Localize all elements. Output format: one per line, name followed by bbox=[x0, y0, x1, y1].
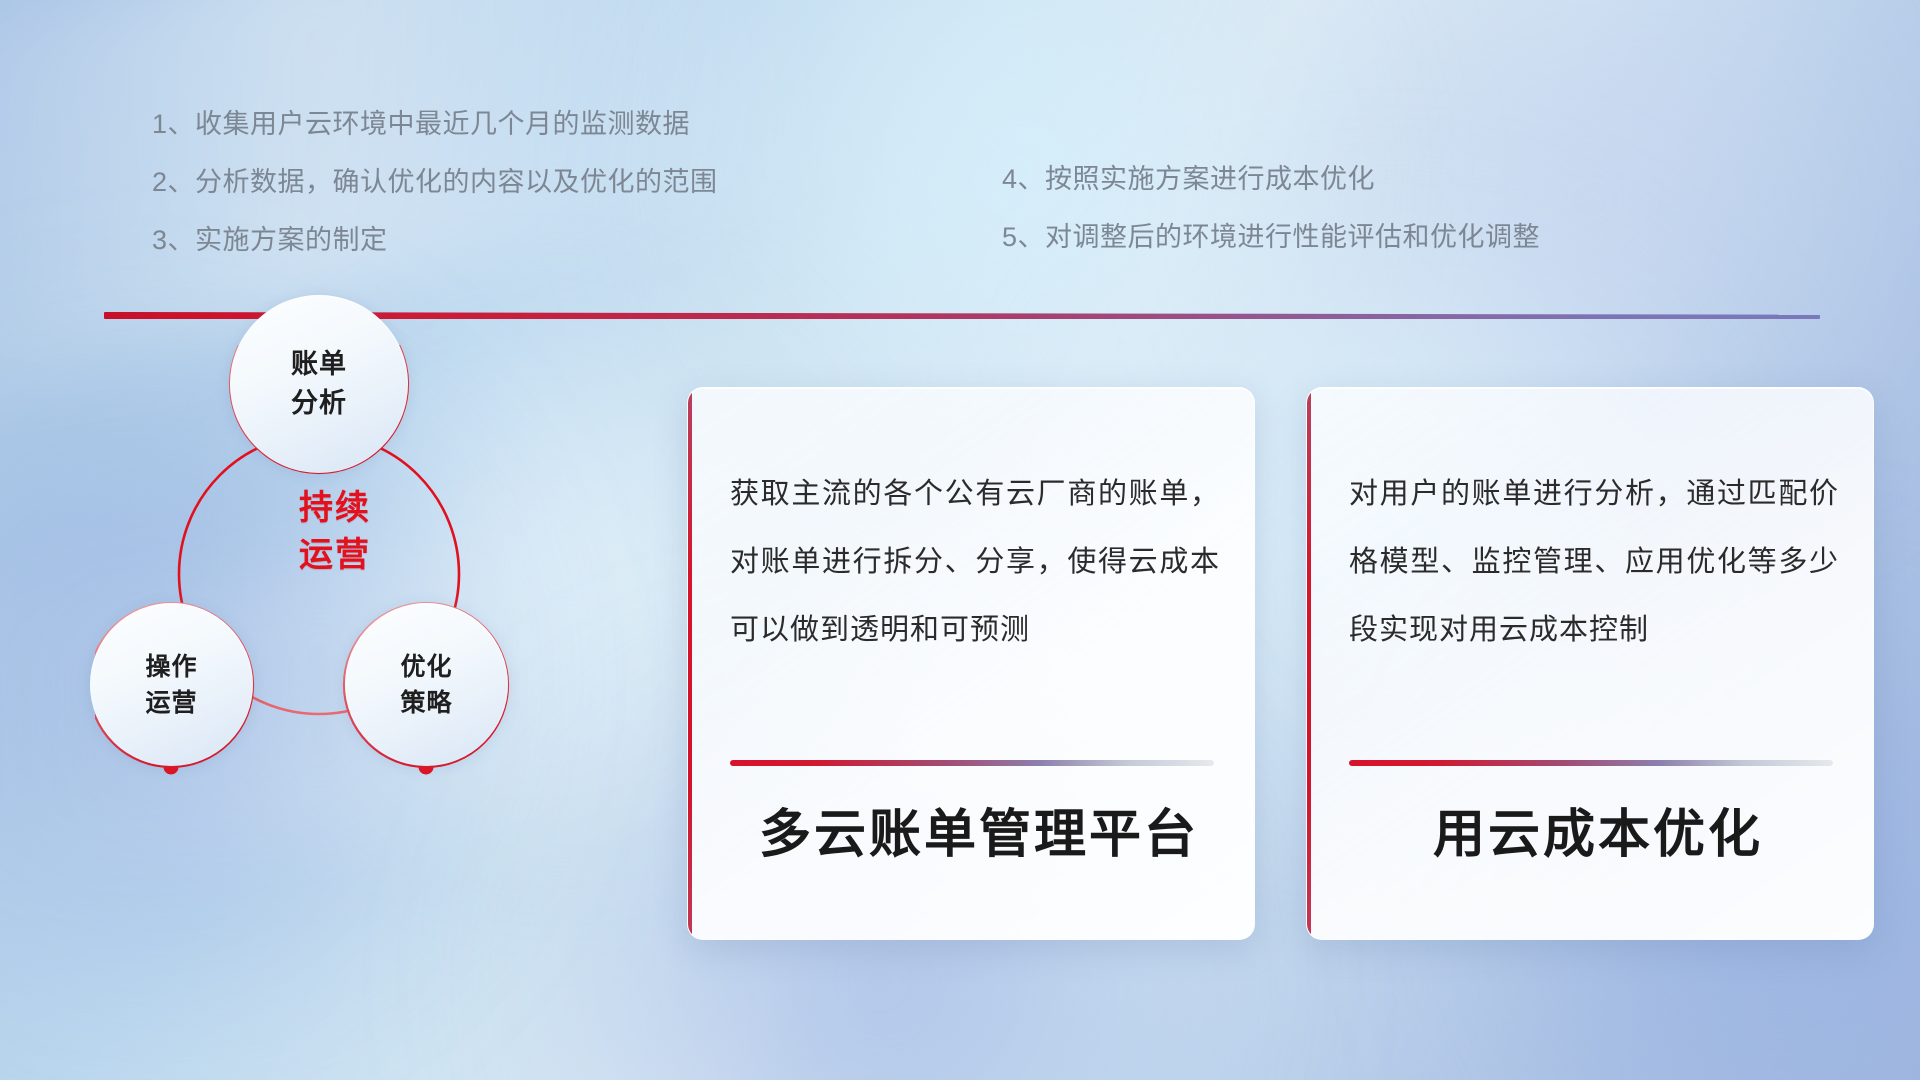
process-steps-left-column: 1、收集用户云环境中最近几个月的监测数据 2、分析数据，确认优化的内容以及优化的… bbox=[152, 95, 718, 269]
bubble-label-line1: 账单 bbox=[291, 345, 347, 384]
bubble-optimization-strategy[interactable]: 优化 策略 bbox=[345, 603, 508, 766]
card-title: 多云账单管理平台 bbox=[728, 798, 1230, 872]
bubble-bill-analysis-label: 账单 分析 bbox=[291, 345, 347, 423]
process-step-1: 1、收集用户云环境中最近几个月的监测数据 bbox=[152, 95, 718, 153]
bubble-label-line1: 优化 bbox=[400, 649, 452, 685]
bubble-operation[interactable]: 操作 运营 bbox=[90, 603, 253, 766]
bubble-label-line2: 策略 bbox=[400, 685, 452, 721]
bubble-label-line1: 操作 bbox=[145, 649, 197, 685]
process-step-2: 2、分析数据，确认优化的内容以及优化的范围 bbox=[152, 153, 718, 211]
card-cloud-cost-optimization[interactable]: 对用户的账单进行分析，通过匹配价格模型、监控管理、应用优化等多少段实现对用云成本… bbox=[1306, 387, 1874, 940]
process-step-3: 3、实施方案的制定 bbox=[152, 211, 718, 269]
process-step-4: 4、按照实施方案进行成本优化 bbox=[1002, 150, 1540, 208]
card-body-text: 对用户的账单进行分析，通过匹配价格模型、监控管理、应用优化等多少段实现对用云成本… bbox=[1349, 460, 1839, 664]
bubble-optimization-strategy-label: 优化 策略 bbox=[400, 649, 452, 721]
center-label-line2: 运营 bbox=[250, 532, 420, 579]
card-title: 用云成本优化 bbox=[1347, 798, 1849, 872]
bubble-label-line2: 运营 bbox=[145, 685, 197, 721]
card-body-text: 获取主流的各个公有云厂商的账单，对账单进行拆分、分享，使得云成本可以做到透明和可… bbox=[730, 460, 1220, 664]
card-accent-rule bbox=[1349, 760, 1833, 766]
center-label-line1: 持续 bbox=[250, 485, 420, 532]
process-steps-right-column: 4、按照实施方案进行成本优化 5、对调整后的环境进行性能评估和优化调整 bbox=[1002, 150, 1540, 266]
bubble-label-line2: 分析 bbox=[291, 384, 347, 423]
bubble-operation-label: 操作 运营 bbox=[145, 649, 197, 721]
bubble-bill-analysis[interactable]: 账单 分析 bbox=[230, 295, 408, 473]
card-multi-cloud-billing-platform[interactable]: 获取主流的各个公有云厂商的账单，对账单进行拆分、分享，使得云成本可以做到透明和可… bbox=[687, 387, 1255, 940]
diagram-center-label: 持续 运营 bbox=[250, 485, 420, 579]
process-step-5: 5、对调整后的环境进行性能评估和优化调整 bbox=[1002, 208, 1540, 266]
card-accent-rule bbox=[730, 760, 1214, 766]
continuous-operation-diagram: 账单 分析 操作 运营 优化 策略 持续 运营 bbox=[95, 345, 565, 945]
